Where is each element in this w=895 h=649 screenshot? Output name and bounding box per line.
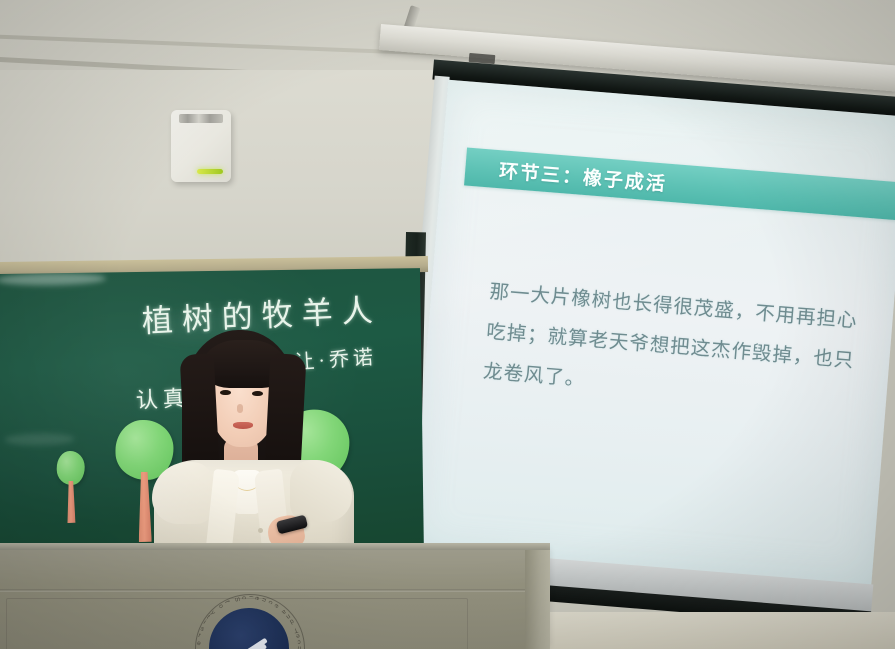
shoulder-left — [152, 462, 214, 524]
slide-title-banner: 环节三：橡子成活 — [464, 147, 895, 220]
slide-body: 那一大片橡树也长得很茂盛，不用再担心 吃掉；就算老天爷想把这杰作毁掉，也只 龙卷… — [482, 272, 895, 425]
nose — [237, 404, 243, 413]
status-led — [197, 169, 223, 174]
tree-canopy — [56, 451, 84, 485]
chalk-smudge — [4, 433, 74, 446]
wall-speaker-icon — [171, 110, 231, 182]
slide-title: 环节三：橡子成活 — [498, 156, 668, 196]
blazer-button — [258, 528, 263, 533]
shoulder-right — [290, 460, 352, 522]
classroom-photo: 环节三：橡子成活 那一大片橡树也长得很茂盛，不用再担心 吃掉；就算老天爷想把这杰… — [0, 0, 895, 649]
mountain-peak-icon — [217, 636, 281, 649]
chalk-dust-smudge — [0, 272, 106, 286]
projection-screen: 环节三：橡子成活 那一大片橡树也长得很茂盛，不用再担心 吃掉；就算老天爷想把这杰… — [397, 60, 895, 626]
podium-seam — [0, 589, 550, 592]
mouth — [233, 422, 253, 429]
upper-wall — [0, 70, 470, 280]
slide-surface: 环节三：橡子成活 那一大片橡树也长得很茂盛，不用再担心 吃掉；就算老天爷想把这杰… — [411, 80, 895, 586]
speaker-vent — [179, 114, 223, 123]
lower-wall — [548, 612, 895, 649]
tree-trunk — [67, 481, 76, 523]
presenter — [140, 320, 380, 565]
eye-right — [252, 391, 263, 396]
eye-left — [220, 390, 231, 395]
university-seal-icon: U n i v e r s i t y o f S c i e n c e a … — [195, 594, 305, 649]
podium-side-edge — [525, 550, 550, 649]
